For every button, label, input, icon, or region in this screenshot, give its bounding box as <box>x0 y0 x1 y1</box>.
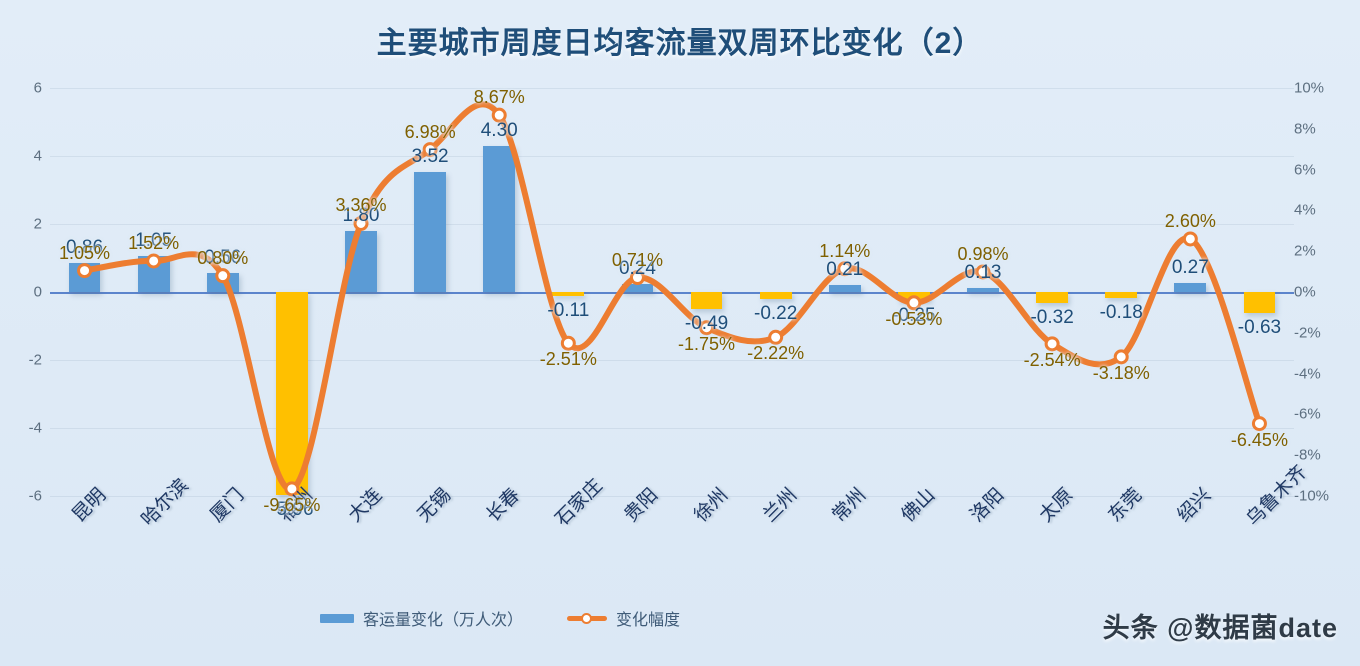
percent-value-label: 6.98% <box>405 122 456 143</box>
bar-value-label: -0.11 <box>547 300 589 322</box>
percent-value-label: -9.65% <box>263 495 320 516</box>
line-point-东莞[interactable] <box>1115 351 1127 363</box>
line-point-太原[interactable] <box>1046 338 1058 350</box>
right-axis-tick: -4% <box>1294 365 1344 382</box>
percent-value-label: 0.98% <box>957 244 1008 265</box>
percent-value-label: 0.80% <box>197 248 248 269</box>
change-rate-line <box>85 104 1260 489</box>
legend-bar-label: 客运量变化（万人次） <box>363 606 523 630</box>
plot-area: 0.861.050.56-5.961.803.524.30-0.110.24-0… <box>50 88 1294 496</box>
line-point-哈尔滨[interactable] <box>148 255 160 267</box>
bar-value-label: -0.63 <box>1238 317 1281 339</box>
watermark: 头条 @数据菌date <box>1103 606 1338 645</box>
percent-value-label: -2.51% <box>540 349 597 370</box>
chart-title: 主要城市周度日均客流量双周环比变化（2） <box>0 18 1360 62</box>
legend-item-line[interactable]: 变化幅度 <box>567 606 680 630</box>
right-axis-tick: 8% <box>1294 120 1344 137</box>
line-point-兰州[interactable] <box>770 331 782 343</box>
percent-value-label: 0.71% <box>612 250 663 271</box>
chart-legend: 客运量变化（万人次） 变化幅度 <box>0 606 1000 630</box>
left-axis-tick: -4 <box>2 420 42 437</box>
legend-item-bar[interactable]: 客运量变化（万人次） <box>320 606 523 630</box>
right-axis-tick: 0% <box>1294 284 1344 301</box>
percent-value-label: -2.22% <box>747 343 804 364</box>
right-axis-tick: -8% <box>1294 447 1344 464</box>
chart-container: 主要城市周度日均客流量双周环比变化（2） 6420-2-4-6 10%8%6%4… <box>0 0 1360 666</box>
percent-value-label: 2.60% <box>1165 211 1216 232</box>
right-axis-tick: -10% <box>1294 488 1344 505</box>
percent-value-label: 1.14% <box>819 241 870 262</box>
percent-value-label: -6.45% <box>1231 430 1288 451</box>
left-axis-tick: 4 <box>2 148 42 165</box>
percent-value-label: -3.18% <box>1093 363 1150 384</box>
percent-value-label: -0.53% <box>885 309 942 330</box>
percent-value-label: 1.52% <box>128 233 179 254</box>
left-axis-tick: 6 <box>2 80 42 97</box>
right-axis-tick: -6% <box>1294 406 1344 423</box>
line-point-昆明[interactable] <box>79 265 91 277</box>
legend-line-label: 变化幅度 <box>616 606 680 630</box>
percent-value-label: 1.05% <box>59 243 110 264</box>
bar-value-label: -0.18 <box>1100 302 1143 324</box>
percent-value-label: -2.54% <box>1024 350 1081 371</box>
left-axis-tick: 2 <box>2 216 42 233</box>
left-axis-tick: -2 <box>2 352 42 369</box>
right-axis-tick: 4% <box>1294 202 1344 219</box>
bar-value-label: -0.22 <box>754 303 797 325</box>
bar-value-label: -0.49 <box>685 313 728 335</box>
line-point-厦门[interactable] <box>217 270 229 282</box>
percent-value-label: -1.75% <box>678 334 735 355</box>
left-axis-tick: -6 <box>2 488 42 505</box>
line-point-绍兴[interactable] <box>1184 233 1196 245</box>
bar-value-label: 4.30 <box>481 120 518 142</box>
line-point-乌鲁木齐[interactable] <box>1253 418 1265 430</box>
right-axis-tick: 10% <box>1294 80 1344 97</box>
right-axis-tick: -2% <box>1294 324 1344 341</box>
legend-line-swatch-icon <box>567 612 607 624</box>
bar-value-label: 0.21 <box>826 259 863 281</box>
percent-value-label: 8.67% <box>474 87 525 108</box>
percent-value-label: 3.36% <box>335 195 386 216</box>
left-axis-tick: 0 <box>2 284 42 301</box>
line-series <box>50 88 1294 496</box>
legend-bar-swatch-icon <box>320 614 354 623</box>
bar-value-label: 3.52 <box>412 146 449 168</box>
bar-value-label: 0.27 <box>1172 257 1209 279</box>
right-axis-tick: 2% <box>1294 243 1344 260</box>
line-point-石家庄[interactable] <box>562 337 574 349</box>
right-axis-tick: 6% <box>1294 161 1344 178</box>
bar-value-label: -0.32 <box>1030 307 1073 329</box>
